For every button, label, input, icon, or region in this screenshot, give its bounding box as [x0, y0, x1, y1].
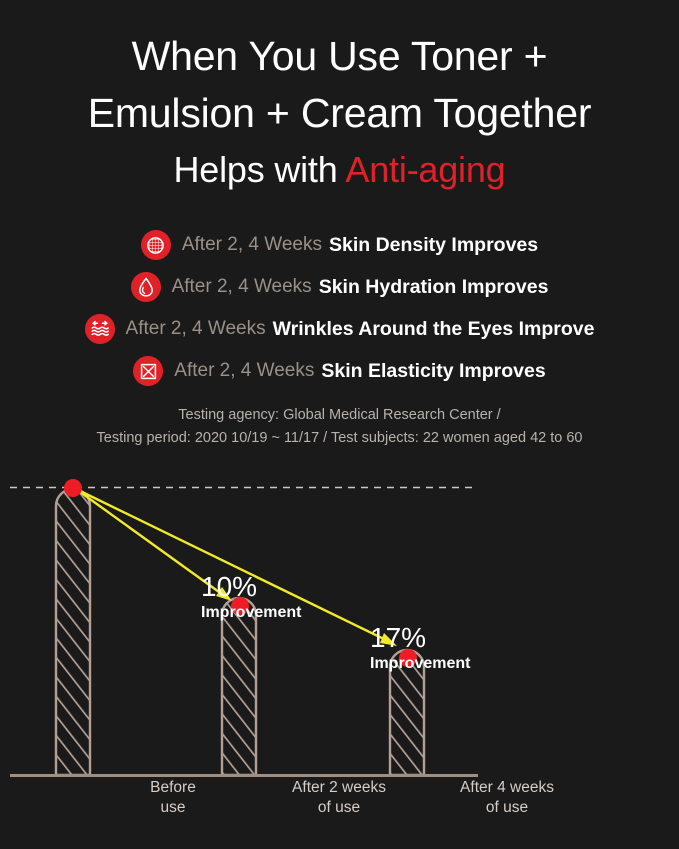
category-label-line: use	[93, 798, 253, 818]
marker-before-use	[64, 479, 82, 497]
list-item: After 2, 4 Weeks Wrinkles Around the Eye…	[0, 308, 679, 350]
category-label-line: of use	[259, 798, 419, 818]
annotation-17-percent-label: Improvement	[370, 654, 470, 674]
annotation-17-percent: 17% Improvement	[370, 622, 470, 674]
category-label-after-4-weeks: After 4 weeks of use	[427, 778, 587, 818]
poster-root: When You Use Toner + Emulsion + Cream To…	[0, 0, 679, 849]
wrinkle-waves-icon	[85, 314, 115, 344]
list-item: After 2, 4 Weeks Skin Elasticity Improve…	[0, 350, 679, 392]
benefit-when: After 2, 4 Weeks	[174, 360, 314, 382]
category-label-after-2-weeks: After 2 weeks of use	[259, 778, 419, 818]
benefit-what: Skin Hydration Improves	[319, 276, 549, 299]
chart-svg	[0, 470, 679, 790]
list-item: After 2, 4 Weeks Skin Density Improves	[0, 224, 679, 266]
benefit-what: Wrinkles Around the Eyes Improve	[273, 318, 595, 341]
testing-note: Testing agency: Global Medical Research …	[0, 404, 679, 450]
list-item: After 2, 4 Weeks Skin Hydration Improves	[0, 266, 679, 308]
water-droplet-icon	[131, 272, 161, 302]
title-line-2: Emulsion + Cream Together	[0, 85, 679, 142]
benefit-when: After 2, 4 Weeks	[182, 234, 322, 256]
improvement-bar-chart: 10% Improvement 17% Improvement Before u…	[0, 470, 679, 849]
benefit-what: Skin Elasticity Improves	[321, 360, 545, 383]
title-line-3-prefix: Helps with	[174, 149, 346, 190]
testing-note-line-1: Testing agency: Global Medical Research …	[0, 404, 679, 427]
title-line-1: When You Use Toner +	[0, 28, 679, 85]
category-label-before-use: Before use	[93, 778, 253, 818]
category-label-line: After 4 weeks	[427, 778, 587, 798]
benefit-what: Skin Density Improves	[329, 234, 538, 257]
annotation-17-percent-value: 17%	[370, 622, 470, 654]
annotation-10-percent-label: Improvement	[201, 603, 301, 623]
category-label-line: of use	[427, 798, 587, 818]
elasticity-icon	[133, 356, 163, 386]
testing-note-line-2: Testing period: 2020 10/19 ~ 11/17 / Tes…	[0, 427, 679, 450]
chart-category-labels: Before use After 2 weeks of use After 4 …	[0, 778, 679, 838]
annotation-10-percent: 10% Improvement	[201, 571, 301, 623]
bar-before-use	[56, 489, 90, 775]
category-label-line: After 2 weeks	[259, 778, 419, 798]
skin-density-icon	[141, 230, 171, 260]
page-title: When You Use Toner + Emulsion + Cream To…	[0, 28, 679, 196]
benefit-when: After 2, 4 Weeks	[172, 276, 312, 298]
title-line-3: Helps with Anti-aging	[0, 144, 679, 196]
title-accent-anti-aging: Anti-aging	[345, 149, 505, 190]
annotation-10-percent-value: 10%	[201, 571, 301, 603]
category-label-line: Before	[93, 778, 253, 798]
bar-after-2-weeks	[222, 598, 256, 775]
benefit-list: After 2, 4 Weeks Skin Density Improves A…	[0, 224, 679, 392]
benefit-when: After 2, 4 Weeks	[126, 318, 266, 340]
